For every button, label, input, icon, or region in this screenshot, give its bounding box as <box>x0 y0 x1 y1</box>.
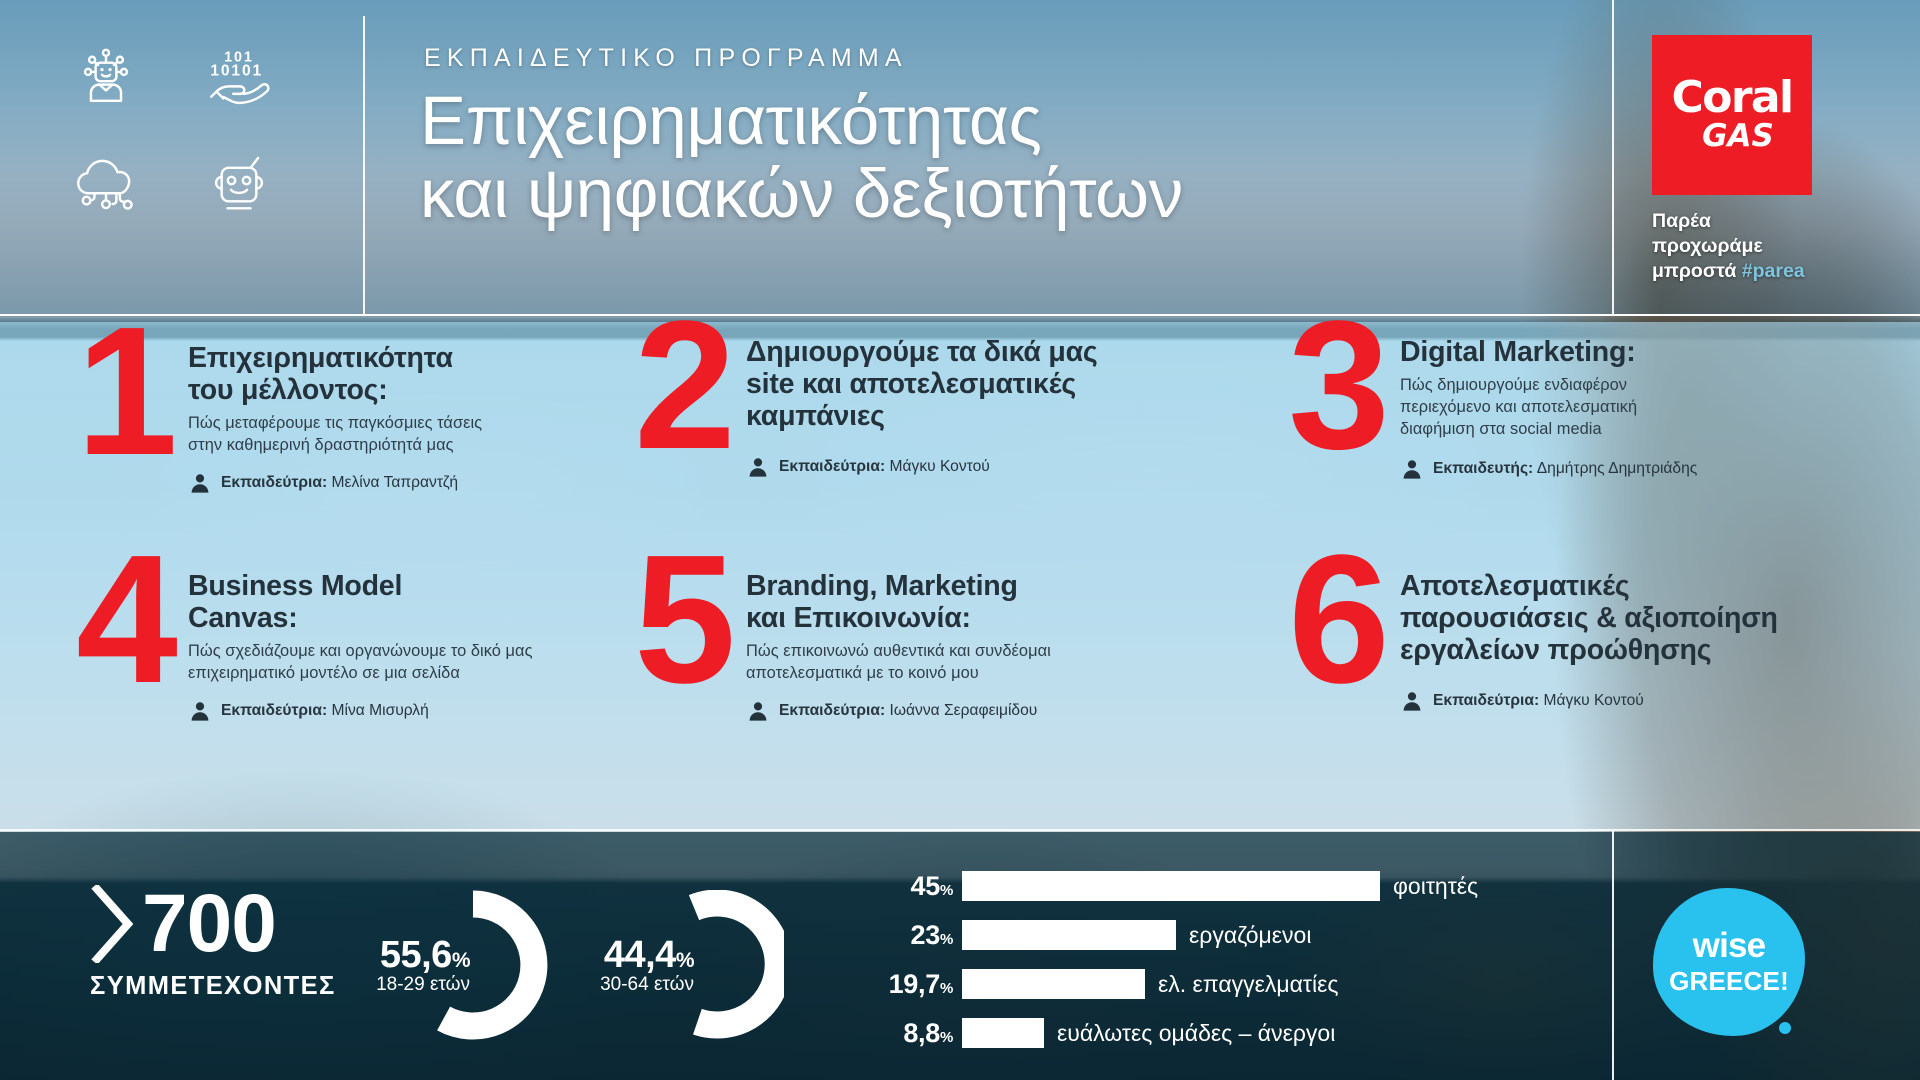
robot-icon <box>185 136 292 232</box>
module-trainer-label-2: Εκπαιδεύτρια: Μάγκυ Κοντού <box>779 458 990 476</box>
percent-sign: % <box>940 1029 953 1046</box>
trainer-role-5: Εκπαιδεύτρια: <box>779 702 885 719</box>
module-trainer-label-5: Εκπαιδεύτρια: Ιωάννα Σεραφειμίδου <box>779 702 1037 720</box>
bar-row: 23% εργαζόμενοι <box>880 917 1520 953</box>
trainer-name-2: Μάγκυ Κοντού <box>890 458 990 475</box>
module-subtitle-1: Πώς μεταφέρουμε τις παγκόσμιες τάσεις στ… <box>188 413 608 457</box>
svg-text:10101: 10101 <box>210 62 263 79</box>
trainer-name-5: Ιωάννα Σεραφειμίδου <box>890 702 1038 719</box>
brand-tagline: Παρέα προχωράμε μπροστά #parea <box>1652 209 1812 284</box>
bar-value-4: 8,8% <box>880 1018 962 1049</box>
module-subtitle-4: Πώς σχεδιάζουμε και οργανώνουμε το δικό … <box>188 641 628 685</box>
module-number-6: 6 <box>1272 546 1400 692</box>
module-number-3: 3 <box>1272 312 1400 458</box>
module-card-5[interactable]: 5 Branding, Marketing και Επικοινωνία: Π… <box>618 558 1218 723</box>
donut-chart-age-30-64: 44,4% 30-64 ετών <box>634 890 784 1040</box>
bar-chart-occupation: 45% φοιτητές 23% εργαζόμενοι 19,7% ελ. ε… <box>880 868 1520 1064</box>
module-title-4: Business Model Canvas: <box>188 570 628 634</box>
bar-row: 19,7% ελ. επαγγελματίες <box>880 966 1520 1002</box>
person-icon <box>188 699 212 723</box>
bar-fill-1 <box>962 871 1380 901</box>
bar-row: 45% φοιτητές <box>880 868 1520 904</box>
brand-name-gas: GAS <box>1702 118 1774 154</box>
trainer-role-3: Εκπαιδευτής: <box>1433 460 1533 477</box>
coral-gas-logo: Coral GAS <box>1652 35 1812 195</box>
person-icon <box>1400 457 1424 481</box>
wise-logo-line2: GREECE! <box>1669 966 1789 997</box>
percent-sign: % <box>452 949 470 972</box>
page-title: Επιχειρηματικότητας και ψηφιακών δεξιοτή… <box>420 84 1540 230</box>
brand-tagline-line1: Παρέα προχωράμε <box>1652 209 1812 259</box>
hand-binary-icon: 101 10101 <box>185 32 292 128</box>
participants-stat: 700 ΣΥΜΜΕΤΕΧΟΝΤΕΣ <box>90 885 336 1001</box>
module-subtitle-3: Πώς δημιουργούμε ενδιαφέρον περιεχόμενο … <box>1400 375 1850 440</box>
bar-row: 8,8% ευάλωτες ομάδες – άνεργοι <box>880 1015 1520 1051</box>
footer-divider <box>0 829 1920 831</box>
trainer-role-4: Εκπαιδεύτρια: <box>221 702 327 719</box>
wise-logo-blob <box>1779 1022 1791 1034</box>
module-trainer-1: Εκπαιδεύτρια: Μελίνα Ταπραντζή <box>188 471 608 495</box>
header-vertical-divider-left <box>363 16 365 314</box>
footer-vertical-divider <box>1612 831 1614 1080</box>
bar-fill-2 <box>962 920 1176 950</box>
person-icon <box>1400 689 1424 713</box>
person-icon <box>188 471 212 495</box>
header-vertical-divider-right <box>1612 0 1614 314</box>
module-title-3: Digital Marketing: <box>1400 336 1850 368</box>
module-trainer-5: Εκπαιδεύτρια: Ιωάννα Σεραφειμίδου <box>746 699 1206 723</box>
trainer-role-6: Εκπαιδεύτρια: <box>1433 692 1539 709</box>
module-trainer-4: Εκπαιδεύτρια: Μίνα Μισυρλή <box>188 699 628 723</box>
bar-value-3: 19,7% <box>880 969 962 1000</box>
title-line-2: και ψηφιακών δεξιοτήτων <box>420 157 1540 230</box>
module-subtitle-5: Πώς επικοινωνώ αυθεντικά και συνδέομαι α… <box>746 641 1206 685</box>
module-trainer-label-3: Εκπαιδευτής: Δημήτρης Δημητριάδης <box>1433 460 1697 478</box>
donut-value-2: 44,4% <box>568 934 694 977</box>
bar-fill-3 <box>962 969 1145 999</box>
bar-label-3: ελ. επαγγελματίες <box>1158 971 1338 998</box>
percent-sign: % <box>940 931 953 948</box>
person-icon <box>746 455 770 479</box>
trainer-role-1: Εκπαιδεύτρια: <box>221 474 327 491</box>
module-card-3[interactable]: 3 Digital Marketing: Πώς δημιουργούμε εν… <box>1272 324 1892 481</box>
wise-greece-logo[interactable]: wise GREECE! <box>1653 888 1805 1036</box>
bar-label-1: φοιτητές <box>1393 873 1478 900</box>
trainer-name-3: Δημήτρης Δημητριάδης <box>1537 460 1698 477</box>
bar-value-2: 23% <box>880 920 962 951</box>
module-number-5: 5 <box>618 546 746 692</box>
trainer-role-2: Εκπαιδεύτρια: <box>779 458 885 475</box>
header-divider <box>0 314 1920 316</box>
percent-sign: % <box>676 949 694 972</box>
trainer-name-1: Μελίνα Ταπραντζή <box>332 474 459 491</box>
donut-chart-age-18-29: 55,6% 18-29 ετών <box>398 890 548 1040</box>
header-icon-group: 101 10101 <box>52 32 292 232</box>
brand-tagline-prefix: μπροστά <box>1652 260 1742 282</box>
bar-fill-4 <box>962 1018 1044 1048</box>
module-card-6[interactable]: 6 Αποτελεσματικές παρουσιάσεις & αξιοποί… <box>1272 558 1912 713</box>
chevron-right-icon <box>90 885 136 963</box>
module-trainer-label-4: Εκπαιδεύτρια: Μίνα Μισυρλή <box>221 702 429 720</box>
brand-tagline-line2: μπροστά #parea <box>1652 259 1812 284</box>
bar-label-4: ευάλωτες ομάδες – άνεργοι <box>1057 1020 1335 1047</box>
modules-grid: 1 Επιχειρηματικότητα του μέλλοντος: Πώς … <box>0 330 1920 826</box>
person-network-icon <box>52 32 159 128</box>
program-kicker: ΕΚΠΑΙΔΕΥΤΙΚΟ ΠΡΟΓΡΑΜΜΑ <box>424 44 908 73</box>
percent-sign: % <box>940 980 953 997</box>
title-line-1: Επιχειρηματικότητας <box>420 84 1540 157</box>
donut-label-2: 30-64 ετών <box>564 974 694 996</box>
module-card-2[interactable]: 2 Δημιουργούμε τα δικά μας site και αποτ… <box>618 324 1218 479</box>
module-title-6: Αποτελεσματικές παρουσιάσεις & αξιοποίησ… <box>1400 570 1880 667</box>
person-icon <box>746 699 770 723</box>
module-trainer-2: Εκπαιδεύτρια: Μάγκυ Κοντού <box>746 455 1206 479</box>
module-title-5: Branding, Marketing και Επικοινωνία: <box>746 570 1206 634</box>
module-number-2: 2 <box>618 312 746 458</box>
module-trainer-6: Εκπαιδεύτρια: Μάγκυ Κοντού <box>1400 689 1880 713</box>
bar-label-2: εργαζόμενοι <box>1189 922 1311 949</box>
infographic-page: 101 10101 <box>0 0 1920 1080</box>
donut-value-1: 55,6% <box>338 934 470 977</box>
participants-value: 700 <box>142 889 276 960</box>
module-card-4[interactable]: 4 Business Model Canvas: Πώς σχεδιάζουμε… <box>60 558 640 723</box>
brand-hashtag: #parea <box>1742 260 1805 282</box>
coral-gas-brand: Coral GAS Παρέα προχωράμε μπροστά #parea <box>1652 35 1812 284</box>
percent-sign: % <box>940 882 953 899</box>
trainer-name-4: Μίνα Μισυρλή <box>332 702 429 719</box>
module-number-1: 1 <box>60 318 188 464</box>
cloud-circuit-icon <box>52 136 159 232</box>
donut-label-1: 18-29 ετών <box>334 974 470 996</box>
module-number-4: 4 <box>60 546 188 692</box>
module-title-2: Δημιουργούμε τα δικά μας site και αποτελ… <box>746 336 1206 433</box>
module-trainer-label-1: Εκπαιδεύτρια: Μελίνα Ταπραντζή <box>221 474 458 492</box>
module-trainer-label-6: Εκπαιδεύτρια: Μάγκυ Κοντού <box>1433 692 1644 710</box>
module-card-1[interactable]: 1 Επιχειρηματικότητα του μέλλοντος: Πώς … <box>60 330 620 495</box>
brand-name-coral: Coral <box>1672 76 1793 119</box>
participants-caption: ΣΥΜΜΕΤΕΧΟΝΤΕΣ <box>90 972 336 1001</box>
wise-logo-line1: wise <box>1693 928 1766 963</box>
bar-value-1: 45% <box>880 871 962 902</box>
trainer-name-6: Μάγκυ Κοντού <box>1544 692 1644 709</box>
module-trainer-3: Εκπαιδευτής: Δημήτρης Δημητριάδης <box>1400 457 1850 481</box>
module-title-1: Επιχειρηματικότητα του μέλλοντος: <box>188 342 608 406</box>
